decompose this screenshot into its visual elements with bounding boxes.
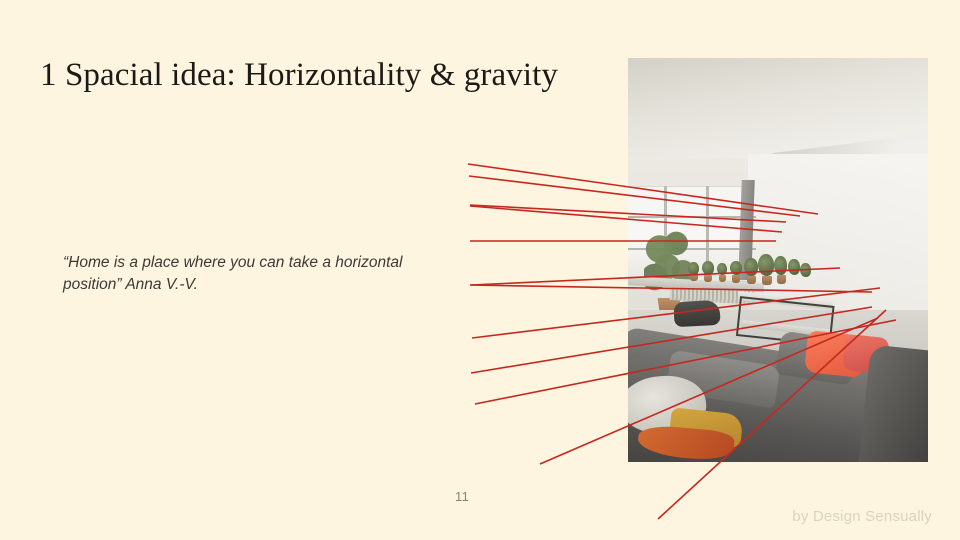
photo-sill-pot: [704, 275, 712, 282]
photo-sill-pot: [762, 276, 772, 285]
footer-brand: by Design Sensually: [792, 508, 932, 525]
photo-sill-plant: [800, 263, 811, 277]
photo-sill-pot: [732, 275, 740, 283]
photo-floor-bag: [673, 300, 720, 327]
photo-sill-plant: [774, 256, 787, 275]
quote-text: “Home is a place where you can take a ho…: [63, 252, 413, 297]
photo-sill-plant: [730, 261, 742, 275]
photo-sill-plant: [702, 261, 714, 275]
photo-sill-plant: [788, 259, 800, 275]
page-number: 11: [455, 489, 469, 504]
presentation-slide: 1 Spacial idea: Horizontality & gravity …: [0, 0, 960, 540]
photo-sill-plant: [744, 258, 758, 276]
living-room-photo: [628, 58, 928, 462]
photo-sill-pot: [777, 275, 786, 284]
page-title: 1 Spacial idea: Horizontality & gravity: [40, 55, 600, 96]
photo-sill-pot: [719, 275, 726, 282]
photo-sill-plant: [758, 254, 774, 276]
photo-sill-plant: [717, 263, 727, 275]
photo-window-transom: [628, 216, 756, 218]
photo-sill-pot: [747, 276, 756, 284]
photo-sill-pot: [690, 274, 698, 281]
